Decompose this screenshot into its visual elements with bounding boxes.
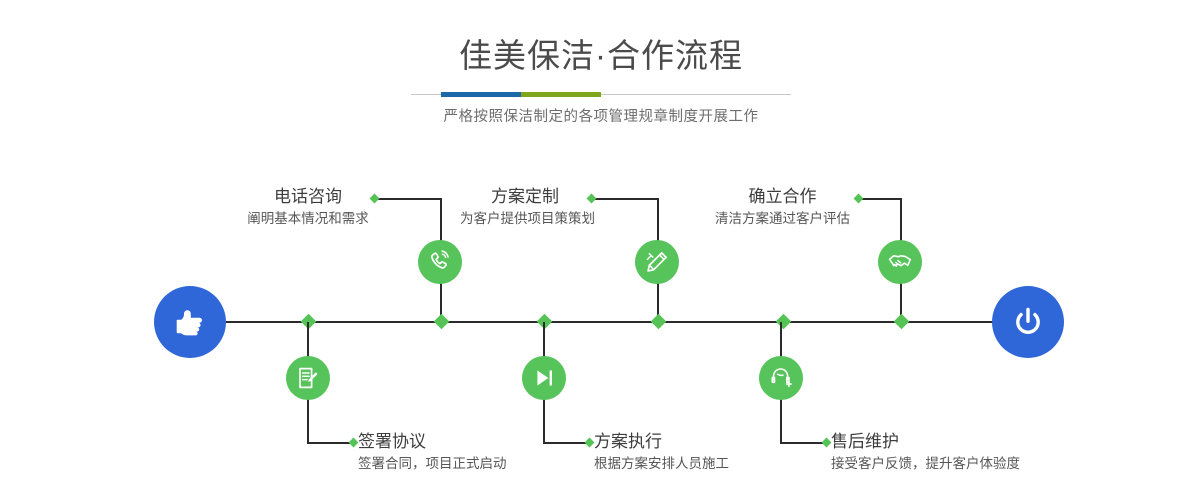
- connector-hline: [307, 442, 353, 444]
- contract-edit-icon: [295, 365, 321, 391]
- step-icon-support[interactable]: [759, 356, 803, 400]
- step-title: 电话咨询: [243, 186, 373, 208]
- handshake-icon: [887, 249, 913, 275]
- timeline-end-endpoint[interactable]: [992, 286, 1064, 358]
- step-label-3: 方案定制 为客户提供项目策策划: [460, 186, 590, 229]
- connector-tip-dot: [822, 438, 832, 448]
- step-desc: 签署合同，项目正式启动: [358, 454, 507, 474]
- connector-hline: [595, 198, 659, 200]
- step-label-1: 电话咨询 阐明基本情况和需求: [243, 186, 373, 229]
- timeline-axis: [206, 321, 1011, 323]
- process-timeline: 电话咨询 阐明基本情况和需求 签署协议 签署合同，项目正式启动: [0, 0, 1202, 502]
- power-icon: [1008, 302, 1048, 342]
- step-desc: 为客户提供项目策策划: [460, 209, 590, 229]
- connector-hline: [378, 198, 442, 200]
- play-next-icon: [531, 365, 557, 391]
- step-label-5: 确立合作 清洁方案通过客户评估: [710, 186, 855, 229]
- connector-hline: [780, 442, 826, 444]
- step-icon-contract[interactable]: [286, 356, 330, 400]
- connector-vline: [900, 198, 902, 236]
- step-desc: 接受客户反馈，提升客户体验度: [831, 454, 1020, 474]
- step-icon-plan-design[interactable]: [635, 240, 679, 284]
- step-label-6: 售后维护 接受客户反馈，提升客户体验度: [831, 431, 1020, 474]
- step-icon-execute[interactable]: [522, 356, 566, 400]
- timeline-node-dot: [434, 314, 450, 330]
- step-label-4: 方案执行 根据方案安排人员施工: [594, 431, 729, 474]
- connector-vline: [657, 198, 659, 236]
- step-icon-handshake[interactable]: [878, 240, 922, 284]
- step-title: 方案定制: [460, 186, 590, 208]
- connector-hline: [862, 198, 902, 200]
- step-label-2: 签署协议 签署合同，项目正式启动: [358, 431, 507, 474]
- support-agent-add-icon: [768, 365, 794, 391]
- step-desc: 阐明基本情况和需求: [243, 209, 373, 229]
- step-title: 售后维护: [831, 431, 1020, 453]
- step-desc: 根据方案安排人员施工: [594, 454, 729, 474]
- timeline-node-dot: [651, 314, 667, 330]
- step-title: 确立合作: [710, 186, 855, 208]
- step-title: 方案执行: [594, 431, 729, 453]
- step-title: 签署协议: [358, 431, 507, 453]
- flow-diagram-page: 佳美保洁·合作流程 严格按照保洁制定的各项管理规章制度开展工作: [0, 0, 1202, 502]
- phone-call-icon: [427, 249, 453, 275]
- connector-tip-dot: [349, 438, 359, 448]
- pointing-hand-icon: [170, 302, 210, 342]
- connector-tip-dot: [585, 438, 595, 448]
- step-icon-phone-call[interactable]: [418, 240, 462, 284]
- timeline-node-dot: [894, 314, 910, 330]
- connector-tip-dot: [854, 194, 864, 204]
- connector-hline: [543, 442, 589, 444]
- timeline-start-endpoint[interactable]: [154, 286, 226, 358]
- pencil-design-icon: [644, 249, 670, 275]
- step-desc: 清洁方案通过客户评估: [710, 209, 855, 229]
- connector-vline: [440, 198, 442, 236]
- timeline-node-dot: [776, 314, 792, 330]
